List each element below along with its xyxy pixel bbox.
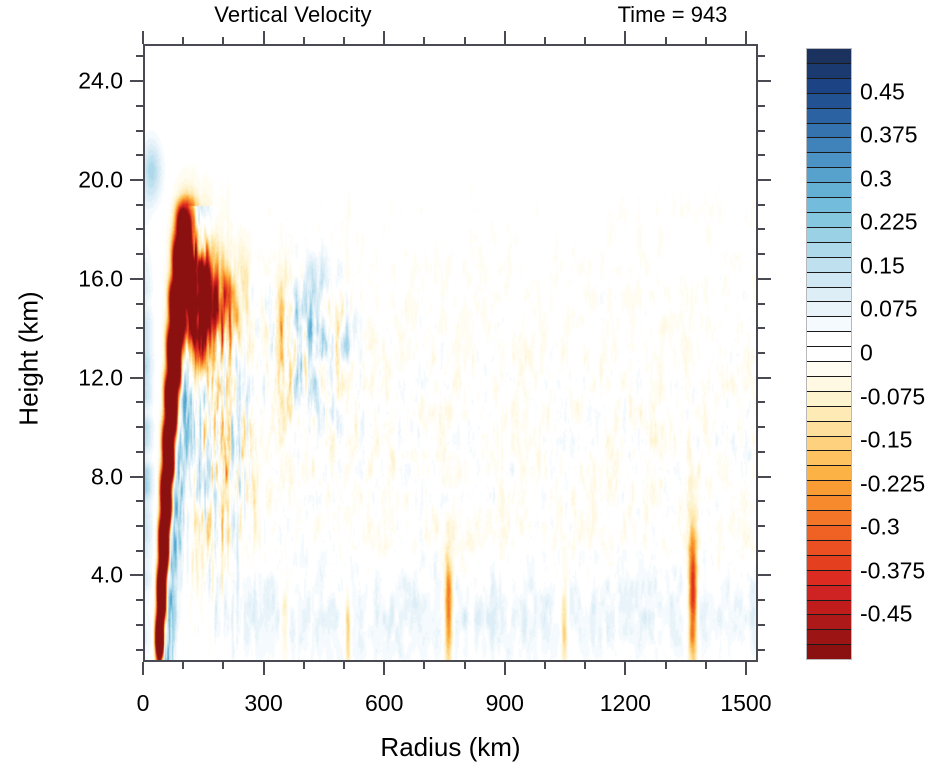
- y-axis-label: Height (km): [14, 209, 45, 509]
- colorbar-segment: [807, 124, 851, 139]
- x-tick-bottom: [584, 662, 586, 669]
- x-tick-bottom: [504, 662, 506, 675]
- x-tick-label: 600: [365, 690, 403, 717]
- y-tick-right: [758, 574, 771, 576]
- x-tick-bottom: [423, 662, 425, 669]
- x-tick-top: [222, 37, 224, 44]
- y-tick-right: [758, 228, 765, 230]
- x-tick-top: [464, 37, 466, 44]
- x-tick-bottom: [464, 662, 466, 669]
- y-tick-right: [758, 401, 765, 403]
- y-tick-right: [758, 550, 765, 552]
- y-tick-left: [136, 204, 143, 206]
- y-tick-right: [758, 253, 765, 255]
- y-tick-left: [136, 525, 143, 527]
- y-tick-left: [130, 377, 143, 379]
- colorbar-segment: [807, 645, 851, 659]
- colorbar-segment: [807, 392, 851, 407]
- colorbar-segment: [807, 317, 851, 332]
- y-tick-right: [758, 327, 765, 329]
- x-tick-top: [263, 31, 265, 44]
- chart-title: Vertical Velocity: [143, 0, 443, 30]
- x-tick-top: [544, 37, 546, 44]
- colorbar-tick-label: 0.375: [860, 122, 918, 149]
- colorbar-segment: [807, 466, 851, 481]
- colorbar-segment: [807, 407, 851, 422]
- colorbar-tick-label: 0.15: [860, 252, 905, 279]
- y-tick-left: [136, 649, 143, 651]
- y-tick-left: [136, 624, 143, 626]
- y-tick-label: 4.0: [8, 562, 123, 589]
- x-tick-top: [182, 37, 184, 44]
- y-tick-left: [136, 599, 143, 601]
- x-tick-bottom: [665, 662, 667, 669]
- y-tick-left: [136, 228, 143, 230]
- x-tick-bottom: [343, 662, 345, 669]
- colorbar-segment: [807, 556, 851, 571]
- time-annotation: Time = 943: [560, 0, 785, 30]
- x-tick-label: 1500: [720, 690, 771, 717]
- colorbar-segment: [807, 496, 851, 511]
- x-tick-bottom: [705, 662, 707, 669]
- vertical-velocity-figure: Vertical Velocity Time = 943 03006009001…: [0, 0, 935, 774]
- colorbar-tick-label: 0.45: [860, 78, 905, 105]
- colorbar-tick-label: 0: [860, 340, 873, 367]
- y-tick-right: [758, 303, 765, 305]
- colorbar-tick-label: 0.225: [860, 209, 918, 236]
- y-tick-right: [758, 352, 765, 354]
- colorbar-segment: [807, 422, 851, 437]
- x-tick-top: [303, 37, 305, 44]
- colorbar-tick-label: 0.3: [860, 165, 892, 192]
- y-tick-left: [136, 550, 143, 552]
- y-tick-right: [758, 130, 765, 132]
- y-tick-right: [758, 80, 771, 82]
- y-tick-right: [758, 525, 765, 527]
- colorbar-segment: [807, 601, 851, 616]
- y-tick-right: [758, 179, 771, 181]
- colorbar-segment: [807, 213, 851, 228]
- x-tick-top: [705, 37, 707, 44]
- y-tick-left: [130, 278, 143, 280]
- colorbar-segment: [807, 377, 851, 392]
- y-tick-right: [758, 476, 771, 478]
- colorbar-segment: [807, 243, 851, 258]
- y-tick-label: 24.0: [8, 68, 123, 95]
- colorbar-segment: [807, 168, 851, 183]
- x-tick-bottom: [142, 662, 144, 675]
- y-tick-left: [130, 476, 143, 478]
- x-tick-label: 1200: [600, 690, 651, 717]
- colorbar-segment: [807, 109, 851, 124]
- colorbar-segment: [807, 541, 851, 556]
- colorbar-tick-label: -0.375: [860, 557, 925, 584]
- x-tick-top: [142, 31, 144, 44]
- x-tick-top: [504, 31, 506, 44]
- colorbar-segment: [807, 183, 851, 198]
- colorbar-segment: [807, 332, 851, 347]
- y-tick-label: 20.0: [8, 166, 123, 193]
- y-tick-left: [136, 303, 143, 305]
- x-tick-bottom: [624, 662, 626, 675]
- colorbar-tick-label: -0.075: [860, 383, 925, 410]
- colorbar-segment: [807, 362, 851, 377]
- y-tick-right: [758, 500, 765, 502]
- y-tick-right: [758, 426, 765, 428]
- heatmap-canvas: [145, 46, 756, 660]
- colorbar-segment: [807, 228, 851, 243]
- colorbar-segment: [807, 258, 851, 273]
- y-tick-right: [758, 377, 771, 379]
- x-tick-bottom: [182, 662, 184, 669]
- x-tick-bottom: [745, 662, 747, 675]
- y-tick-left: [136, 105, 143, 107]
- y-tick-left: [130, 179, 143, 181]
- x-tick-bottom: [303, 662, 305, 669]
- y-tick-left: [136, 327, 143, 329]
- colorbar-tick-label: -0.15: [860, 427, 912, 454]
- colorbar-segment: [807, 302, 851, 317]
- colorbar-segment: [807, 273, 851, 288]
- x-tick-bottom: [222, 662, 224, 669]
- y-tick-right: [758, 278, 771, 280]
- colorbar[interactable]: [806, 48, 852, 660]
- plot-area: [143, 44, 758, 662]
- x-tick-top: [423, 37, 425, 44]
- y-tick-left: [130, 80, 143, 82]
- x-tick-top: [343, 37, 345, 44]
- y-tick-right: [758, 599, 765, 601]
- x-tick-top: [624, 31, 626, 44]
- y-tick-right: [758, 624, 765, 626]
- colorbar-segment: [807, 511, 851, 526]
- colorbar-segment: [807, 451, 851, 466]
- colorbar-tick-label: -0.45: [860, 601, 912, 628]
- colorbar-segment: [807, 586, 851, 601]
- x-tick-label: 900: [486, 690, 524, 717]
- colorbar-segment: [807, 481, 851, 496]
- colorbar-segment: [807, 79, 851, 94]
- colorbar-segment: [807, 526, 851, 541]
- colorbar-segment: [807, 49, 851, 64]
- x-tick-label: 300: [244, 690, 282, 717]
- y-tick-right: [758, 649, 765, 651]
- y-tick-left: [130, 574, 143, 576]
- y-tick-left: [136, 451, 143, 453]
- y-tick-left: [136, 352, 143, 354]
- x-tick-top: [745, 31, 747, 44]
- x-tick-bottom: [383, 662, 385, 675]
- x-tick-label: 0: [137, 690, 150, 717]
- y-tick-left: [136, 500, 143, 502]
- colorbar-segment: [807, 571, 851, 586]
- colorbar-tick-label: 0.075: [860, 296, 918, 323]
- colorbar-segment: [807, 64, 851, 79]
- x-tick-top: [665, 37, 667, 44]
- y-tick-left: [136, 253, 143, 255]
- y-tick-left: [136, 55, 143, 57]
- colorbar-tick-label: -0.225: [860, 470, 925, 497]
- y-tick-left: [136, 154, 143, 156]
- colorbar-segment: [807, 437, 851, 452]
- colorbar-segment: [807, 153, 851, 168]
- colorbar-segment: [807, 347, 851, 362]
- y-tick-right: [758, 204, 765, 206]
- y-tick-left: [136, 130, 143, 132]
- colorbar-segment: [807, 615, 851, 630]
- colorbar-segment: [807, 94, 851, 109]
- y-tick-right: [758, 105, 765, 107]
- x-tick-top: [584, 37, 586, 44]
- y-tick-left: [136, 426, 143, 428]
- colorbar-segment: [807, 138, 851, 153]
- colorbar-segment: [807, 630, 851, 645]
- x-tick-bottom: [544, 662, 546, 669]
- y-tick-left: [136, 401, 143, 403]
- colorbar-tick-label: -0.3: [860, 514, 900, 541]
- y-tick-right: [758, 55, 765, 57]
- colorbar-segment: [807, 198, 851, 213]
- x-tick-bottom: [263, 662, 265, 675]
- x-tick-top: [383, 31, 385, 44]
- colorbar-segment: [807, 288, 851, 303]
- x-axis-label: Radius (km): [143, 732, 758, 763]
- y-tick-right: [758, 154, 765, 156]
- y-tick-right: [758, 451, 765, 453]
